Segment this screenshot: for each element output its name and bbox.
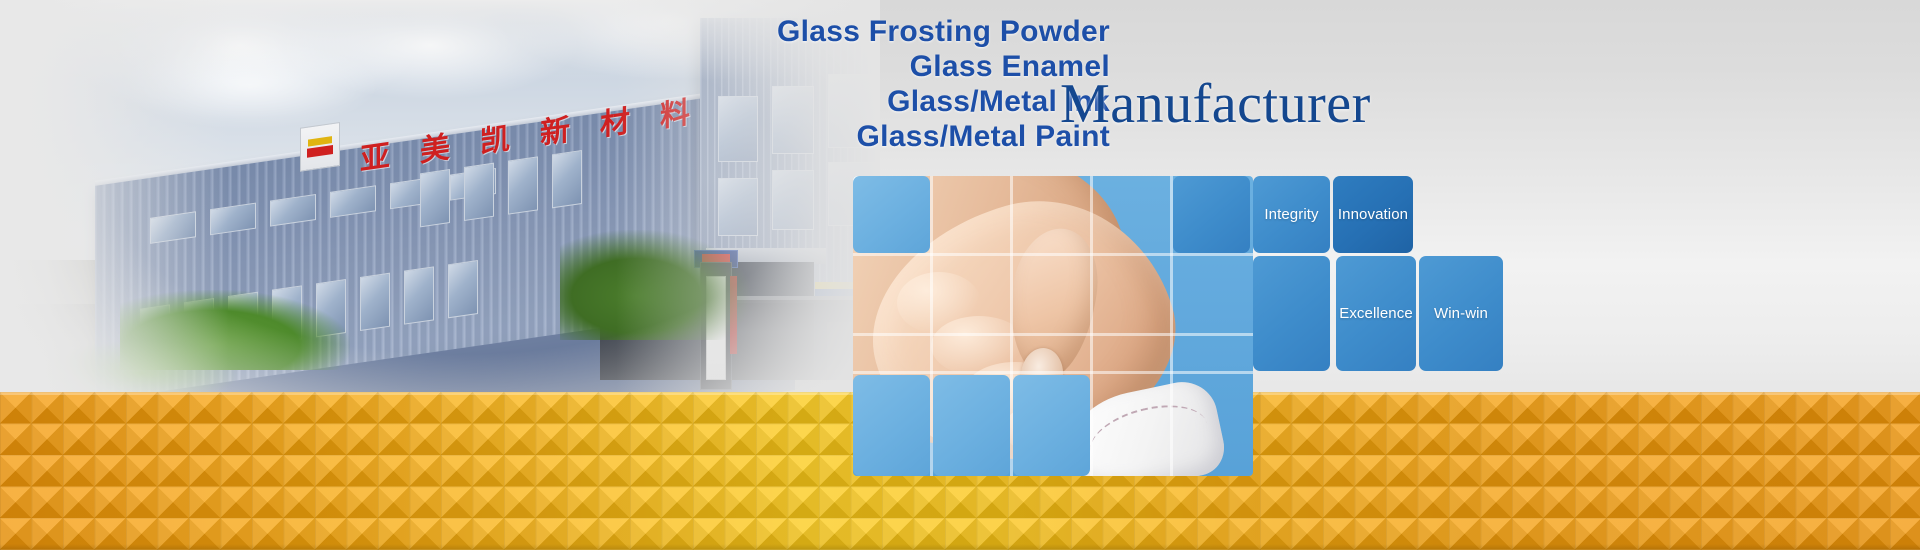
window	[508, 156, 538, 214]
grass-patch	[40, 340, 240, 395]
tile-seam	[853, 371, 1253, 374]
company-logo-plate	[300, 122, 340, 172]
window	[420, 169, 450, 227]
headline-line-2: Glass Enamel	[660, 49, 1110, 84]
mosaic-tile-innovation: Innovation	[1333, 176, 1413, 253]
sign-char-4: 新	[538, 113, 572, 152]
headline-line-3: Glass/Metal Ink	[660, 84, 1110, 119]
headline-block: Glass Frosting Powder Glass Enamel Glass…	[660, 14, 1110, 154]
window	[448, 260, 478, 318]
mosaic-tile-excellence: Excellence	[1336, 256, 1416, 371]
window	[360, 273, 390, 331]
window	[552, 150, 582, 208]
bushes	[560, 230, 750, 340]
window	[718, 178, 758, 236]
mosaic-tile-integrity: Integrity	[1253, 176, 1330, 253]
mosaic-tile-blank	[1173, 176, 1250, 253]
sign-char-2: 美	[418, 131, 452, 170]
handshake-mosaic: Integrity Innovation Excellence Win-win	[853, 176, 1433, 476]
mosaic-tile-blank	[853, 375, 930, 476]
mosaic-tile-blank	[1253, 256, 1330, 371]
headline-line-1: Glass Frosting Powder	[660, 14, 1110, 49]
mosaic-tile-win-win: Win-win	[1419, 256, 1503, 371]
manufacturer-emphasis-text: Manufacturer	[1060, 76, 1371, 132]
tile-seam	[853, 253, 1253, 256]
tile-seam	[853, 333, 1253, 336]
sign-char-3: 凯	[478, 122, 512, 161]
cloud-shape	[120, 40, 380, 130]
window	[464, 163, 494, 221]
mosaic-tile-blank	[1013, 375, 1090, 476]
mosaic-tile-transparent	[1093, 375, 1170, 476]
sign-char-5: 材	[598, 105, 632, 144]
headline-line-4: Glass/Metal Paint	[660, 119, 1110, 154]
window	[772, 170, 814, 230]
mosaic-tile-blank	[853, 176, 930, 253]
mosaic-tile-blank	[933, 375, 1010, 476]
window	[404, 266, 434, 324]
band-bottom-shadow	[0, 544, 1920, 550]
sign-char-1: 亚	[358, 139, 392, 178]
company-hero-banner: 亚 美 凯 新 材 料	[0, 0, 1920, 550]
